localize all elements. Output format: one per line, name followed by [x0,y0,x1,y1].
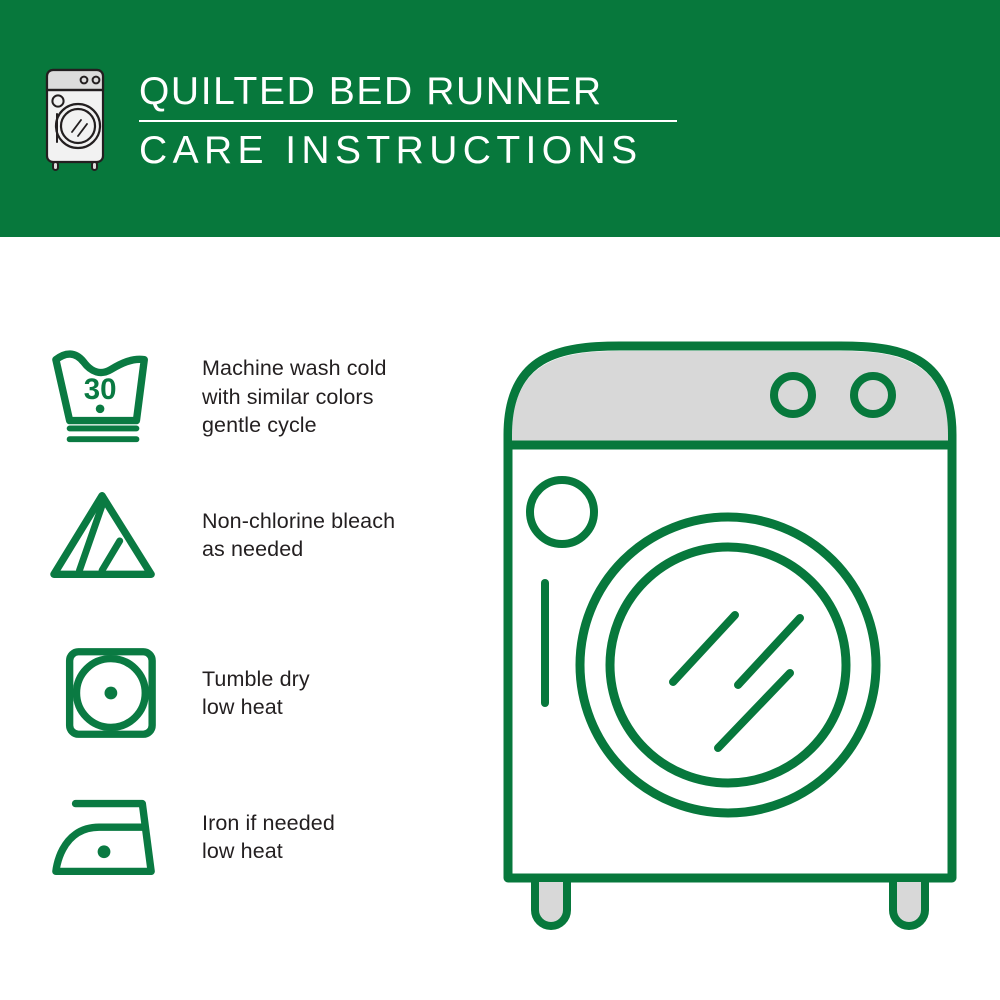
leg-right [893,878,925,926]
header-band: QUILTED BED RUNNER CARE INSTRUCTIONS [0,0,1000,237]
care-text-iron: Iron if needed low heat [202,809,335,866]
tumble-dry-icon [50,645,160,741]
header-text-block: QUILTED BED RUNNER CARE INSTRUCTIONS [139,70,699,173]
control-panel [512,351,948,445]
care-row-tumble-dry: Tumble dry low heat [50,645,310,741]
care-row-machine-wash: 30 Machine wash cold with similar colors… [50,347,387,447]
bleach-triangle-icon [50,489,160,581]
care-instructions-infographic: QUILTED BED RUNNER CARE INSTRUCTIONS 30 … [0,0,1000,1000]
care-row-iron: Iron if needed low heat [50,794,335,880]
title-divider [139,120,677,122]
care-row-bleach: Non-chlorine bleach as needed [50,489,395,581]
wash-tub-30-icon: 30 [50,347,160,447]
care-text-machine-wash: Machine wash cold with similar colors ge… [202,354,387,440]
leg-left [535,878,567,926]
page-subtitle: CARE INSTRUCTIONS [139,129,699,173]
care-text-tumble-dry: Tumble dry low heat [202,665,310,722]
svg-text:30: 30 [84,373,117,406]
care-text-bleach: Non-chlorine bleach as needed [202,507,395,564]
page-title: QUILTED BED RUNNER [139,70,699,114]
front-load-washing-machine-illustration [490,330,970,940]
washing-machine-icon [44,66,106,172]
iron-icon [50,794,160,880]
